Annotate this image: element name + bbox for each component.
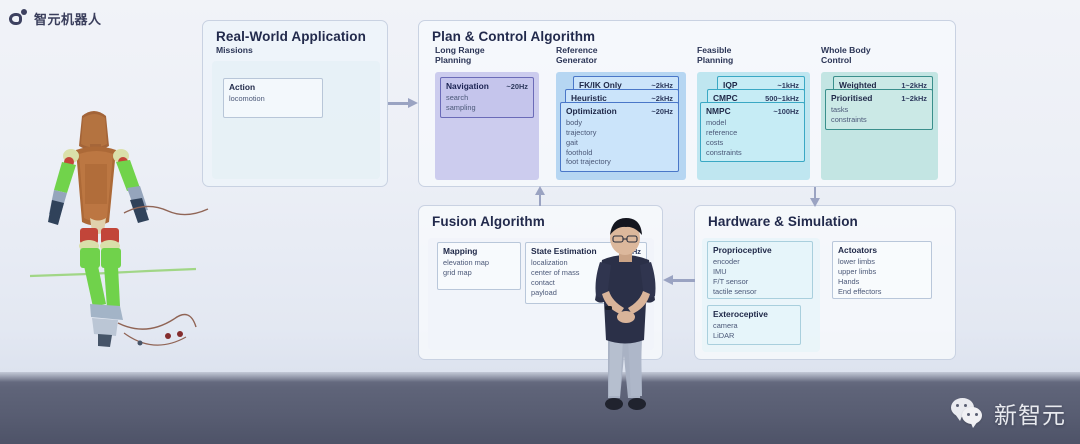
card-mapping: Mapping elevation map grid map	[437, 242, 521, 290]
card-proprioceptive-items: encoder IMU F/T sensor tactile sensor	[713, 257, 807, 296]
card-action: Action locomotion	[223, 78, 323, 118]
wechat-icon	[951, 398, 987, 428]
sublabel-feasible-planning: Feasible Planning	[697, 46, 733, 66]
stage-floor	[0, 372, 1080, 444]
brand-logo: 智元机器人	[8, 8, 102, 28]
card-prioritised: Prioritised 1~2kHz tasks constraints	[825, 89, 933, 130]
panel-title-hardware-simulation: Hardware & Simulation	[708, 214, 858, 229]
card-action-items: locomotion	[229, 94, 317, 104]
sublabel-reference-generator: Reference Generator	[556, 46, 598, 66]
panel-title-fusion-algorithm: Fusion Algorithm	[432, 214, 545, 229]
card-exteroceptive-name: Exteroceptive	[713, 309, 768, 319]
card-nmpc-items: model reference costs constraints	[706, 118, 799, 157]
robot-logo-icon	[8, 8, 28, 28]
card-nmpc: NMPC ~100Hz model reference costs constr…	[700, 102, 805, 162]
slide-diagram: Real-World Application Missions Action l…	[0, 0, 1080, 380]
panel-title-real-world-application: Real-World Application	[216, 29, 366, 44]
brand-name: 智元机器人	[34, 9, 102, 28]
card-optimization-items: body trajectory gait foothold foot traje…	[566, 118, 673, 167]
card-optimization-name: Optimization	[566, 106, 617, 116]
card-optimization: Optimization ~20Hz body trajectory gait …	[560, 102, 679, 172]
card-proprioceptive-name: Proprioceptive	[713, 245, 772, 255]
card-navigation: Navigation ~20Hz search sampling	[440, 77, 534, 118]
panel-title-plan-control-algorithm: Plan & Control Algorithm	[432, 29, 595, 44]
sublabel-long-range-planning: Long Range Planning	[435, 46, 485, 66]
card-actoators-items: lower limbs upper limbs Hands End effect…	[838, 257, 926, 296]
presentation-scene: Real-World Application Missions Action l…	[0, 0, 1080, 444]
card-exteroceptive-items: camera LiDAR	[713, 321, 795, 341]
card-mapping-items: elevation map grid map	[443, 258, 515, 278]
sublabel-whole-body-control: Whole Body Control	[821, 46, 871, 66]
watermark-name: 新智元	[994, 396, 1066, 430]
card-exteroceptive: Exteroceptive camera LiDAR	[707, 305, 801, 345]
card-mapping-name: Mapping	[443, 246, 477, 256]
sublabel-missions: Missions	[216, 46, 253, 56]
card-prioritised-name: Prioritised	[831, 93, 872, 103]
arrow-plan-to-hardware-icon	[810, 187, 820, 207]
arrow-application-to-plan-icon	[388, 98, 420, 108]
presenter-person	[572, 218, 680, 428]
arrow-fusion-to-plan-icon	[535, 186, 545, 206]
card-navigation-frequency: ~20Hz	[506, 82, 528, 91]
card-prioritised-frequency: 1~2kHz	[901, 94, 927, 103]
card-nmpc-name: NMPC	[706, 106, 731, 116]
card-proprioceptive: Proprioceptive encoder IMU F/T sensor ta…	[707, 241, 813, 299]
card-navigation-name: Navigation	[446, 81, 489, 91]
card-optimization-frequency: ~20Hz	[651, 107, 673, 116]
card-actoators: Actoators lower limbs upper limbs Hands …	[832, 241, 932, 299]
card-action-name: Action	[229, 82, 255, 92]
card-actoators-name: Actoators	[838, 245, 877, 255]
card-navigation-items: search sampling	[446, 93, 528, 113]
watermark: 新智元	[951, 396, 1066, 430]
card-prioritised-items: tasks constraints	[831, 105, 927, 125]
card-nmpc-frequency: ~100Hz	[773, 107, 799, 116]
